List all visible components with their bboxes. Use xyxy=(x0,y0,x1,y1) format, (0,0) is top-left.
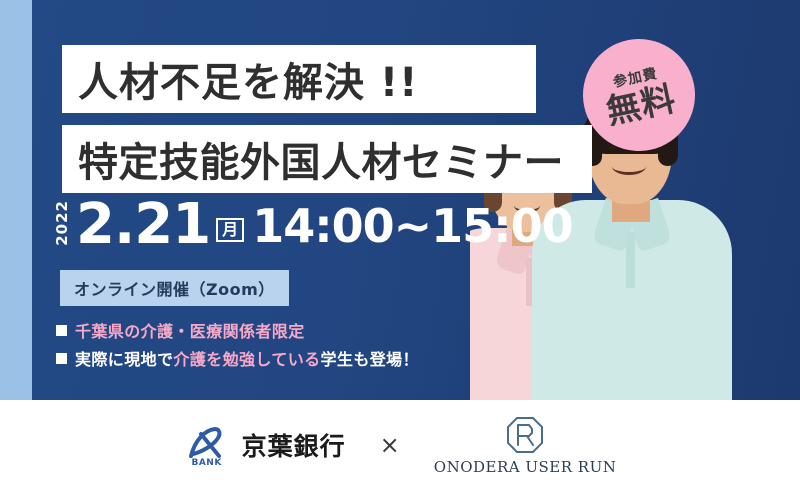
square-bullet-icon xyxy=(56,353,67,364)
sponsor-logos: BANK 京葉銀行 × ONODERA USER RUN xyxy=(0,400,800,490)
logo-separator-icon: × xyxy=(380,431,400,459)
bullet-list: 千葉県の介護・医療関係者限定 実際に現地で 介護を勉強している 学生も登場！ xyxy=(56,318,419,374)
bullet-2-segment-1: 実際に現地で xyxy=(75,346,173,370)
male-placket xyxy=(626,232,635,288)
event-year: 2022 xyxy=(55,200,70,246)
list-item: 実際に現地で 介護を勉強している 学生も登場！ xyxy=(56,346,419,370)
male-eye-left xyxy=(608,146,616,150)
bullet-2-segment-2: 介護を勉強している xyxy=(173,346,320,370)
male-smile xyxy=(612,158,646,175)
seminar-banner: 人材不足を解決 !! 特定技能外国人材セミナー 参加費 無料 2022 2.21… xyxy=(0,0,800,490)
onodera-octagon-icon xyxy=(505,415,545,455)
onodera-user-run-logo: ONODERA USER RUN xyxy=(434,415,617,476)
keiyo-bank-name: 京葉銀行 xyxy=(242,427,346,463)
bullet-1-segment-1: 千葉県の介護・医療関係者限定 xyxy=(75,318,305,342)
event-month-day: 2.21 xyxy=(76,198,210,251)
headline-box-primary: 人材不足を解決 !! xyxy=(62,45,536,113)
keiyo-alpha-mark-icon: BANK xyxy=(184,422,230,468)
venue-online-pill: オンライン開催（Zoom） xyxy=(60,270,289,306)
list-item: 千葉県の介護・医療関係者限定 xyxy=(56,318,419,342)
event-weekday-box: 月 xyxy=(216,218,244,242)
headline-text-secondary: 特定技能外国人材セミナー xyxy=(62,130,564,188)
onodera-name: ONODERA USER RUN xyxy=(434,458,617,476)
bullet-2-segment-3: 学生も登場！ xyxy=(321,346,419,370)
square-bullet-icon xyxy=(56,325,67,336)
left-blue-stripe xyxy=(0,0,32,400)
keiyo-bank-word: BANK xyxy=(191,458,221,468)
keiyo-bank-logo: BANK 京葉銀行 xyxy=(184,422,346,468)
headline-box-secondary: 特定技能外国人材セミナー xyxy=(62,125,592,193)
event-datetime: 2022 2.21 月 14:00~15:00 xyxy=(55,198,573,251)
event-time-range: 14:00~15:00 xyxy=(252,203,572,249)
headline-text-primary: 人材不足を解決 !! xyxy=(62,50,418,108)
